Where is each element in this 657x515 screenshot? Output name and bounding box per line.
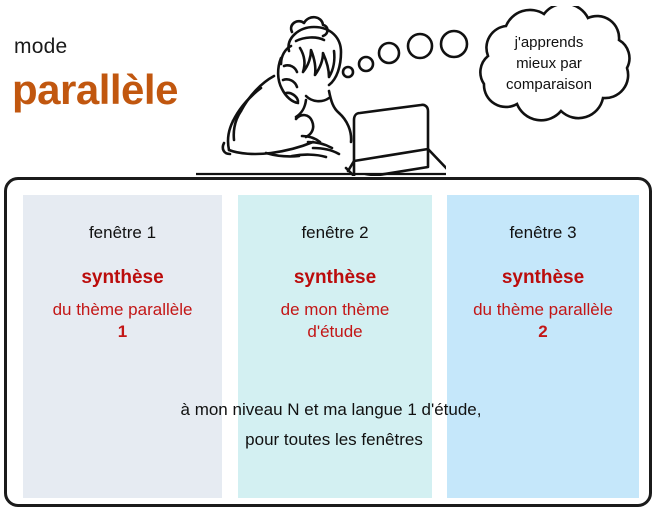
thought-dot-1 bbox=[343, 67, 353, 77]
theme-line-1-b: 1 bbox=[118, 322, 127, 341]
thought-dot-4 bbox=[408, 34, 432, 58]
window-column-2[interactable]: fenêtre 2 synthèse de mon thème d'étude bbox=[238, 195, 432, 498]
header-zone: mode parallèle bbox=[0, 0, 657, 177]
mode-label: mode bbox=[14, 36, 67, 57]
window-label-1: fenêtre 1 bbox=[23, 223, 222, 243]
window-column-3[interactable]: fenêtre 3 synthèse du thème parallèle 2 bbox=[447, 195, 639, 498]
thought-dot-2 bbox=[359, 57, 373, 71]
thought-bubble-text: j'apprends mieux par comparaison bbox=[479, 32, 619, 95]
theme-description-1: du thème parallèle 1 bbox=[23, 299, 222, 343]
thought-dot-5 bbox=[441, 31, 467, 57]
thought-bubble-line-3: comparaison bbox=[506, 76, 592, 93]
thought-dot-3 bbox=[379, 43, 399, 63]
theme-line-3-b: 2 bbox=[538, 322, 547, 341]
theme-description-2: de mon thème d'étude bbox=[238, 299, 432, 343]
theme-line-2-a: de mon thème bbox=[281, 300, 390, 319]
window-column-1[interactable]: fenêtre 1 synthèse du thème parallèle 1 bbox=[23, 195, 222, 498]
synthese-heading-2: synthèse bbox=[238, 267, 432, 289]
theme-description-3: du thème parallèle 2 bbox=[447, 299, 639, 343]
mode-title: parallèle bbox=[12, 69, 178, 111]
synthese-heading-1: synthèse bbox=[23, 267, 222, 289]
thought-bubble-line-2: mieux par bbox=[516, 55, 582, 72]
thought-bubble-line-1: j'apprends bbox=[515, 34, 584, 51]
parallel-mode-panel: fenêtre 1 synthèse du thème parallèle 1 … bbox=[4, 177, 652, 507]
theme-line-1-a: du thème parallèle bbox=[53, 300, 193, 319]
window-label-2: fenêtre 2 bbox=[238, 223, 432, 243]
theme-line-3-a: du thème parallèle bbox=[473, 300, 613, 319]
window-label-3: fenêtre 3 bbox=[447, 223, 639, 243]
synthese-heading-3: synthèse bbox=[447, 267, 639, 289]
theme-line-2-b: d'étude bbox=[307, 322, 362, 341]
